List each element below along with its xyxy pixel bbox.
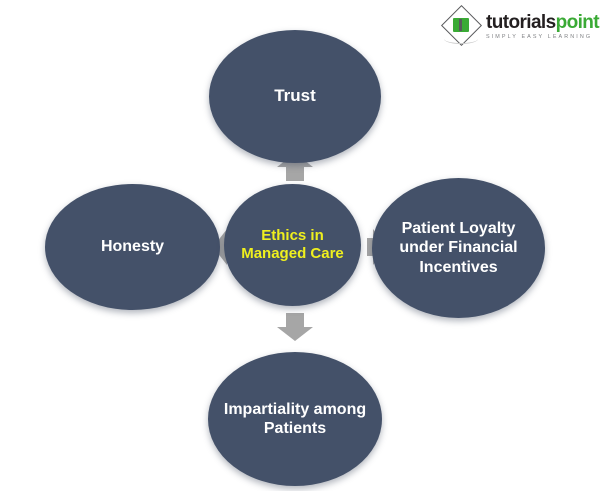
node-patient-loyalty-label: Patient Loyalty under Financial Incentiv… bbox=[372, 219, 545, 277]
logo-text: tutorialspoint SIMPLY EASY LEARNING bbox=[486, 13, 599, 40]
logo-swoosh-shape bbox=[444, 34, 478, 44]
node-impartiality-label: Impartiality among Patients bbox=[208, 400, 382, 438]
logo-book-shape bbox=[453, 18, 469, 32]
tutorialspoint-logo: tutorialspoint SIMPLY EASY LEARNING bbox=[443, 6, 595, 48]
node-impartiality[interactable]: Impartiality among Patients bbox=[208, 352, 382, 486]
node-honesty[interactable]: Honesty bbox=[45, 184, 220, 310]
node-ethics-in-managed-care-label: Ethics in Managed Care bbox=[224, 227, 361, 263]
node-honesty-label: Honesty bbox=[91, 237, 174, 256]
logo-wordmark: tutorialspoint bbox=[486, 13, 599, 32]
node-ethics-in-managed-care[interactable]: Ethics in Managed Care bbox=[224, 184, 361, 306]
node-trust[interactable]: Trust bbox=[209, 30, 381, 163]
logo-word-point: point bbox=[556, 12, 599, 33]
diagram-canvas: tutorialspoint SIMPLY EASY LEARNING Trus… bbox=[0, 0, 600, 491]
logo-tagline: SIMPLY EASY LEARNING bbox=[486, 35, 599, 40]
logo-word-tutorials: tutorials bbox=[486, 12, 556, 33]
arrow-down-icon bbox=[276, 312, 314, 342]
diamond-book-icon bbox=[443, 8, 481, 46]
node-trust-label: Trust bbox=[264, 86, 326, 106]
node-patient-loyalty[interactable]: Patient Loyalty under Financial Incentiv… bbox=[372, 178, 545, 318]
